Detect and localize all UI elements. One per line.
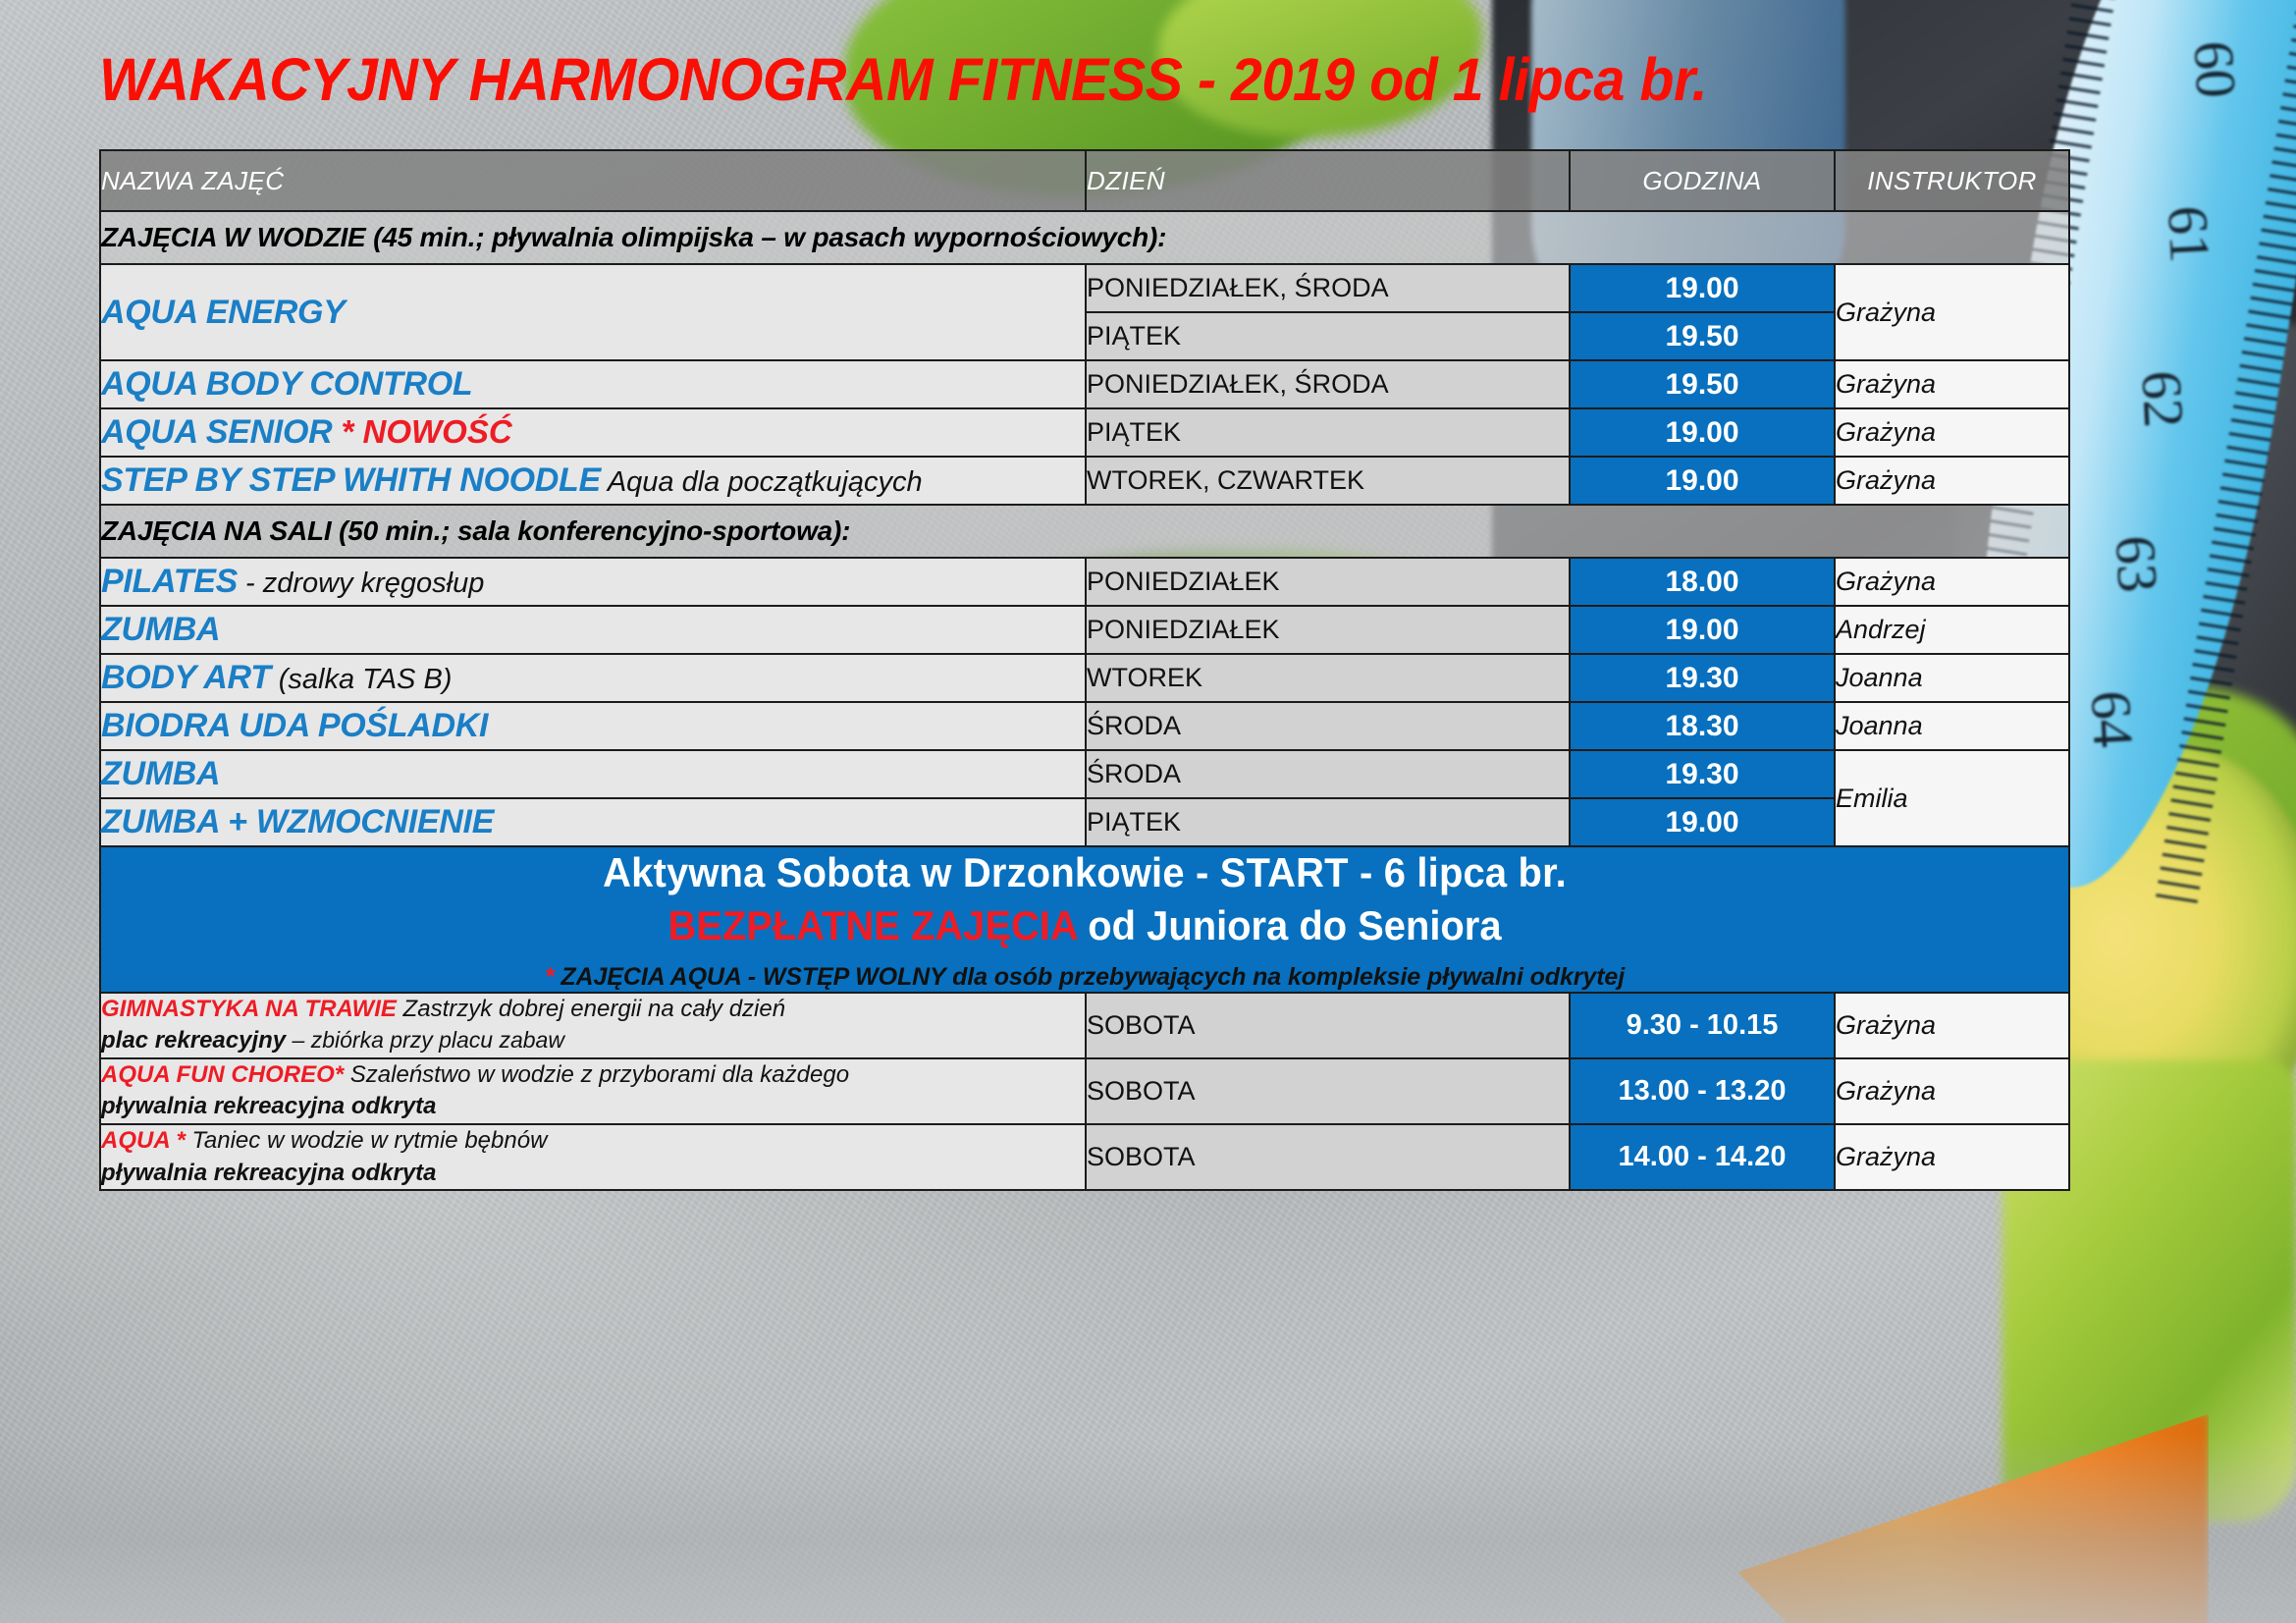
instructor-cell: Grażyna	[1835, 1058, 2069, 1124]
class-subtitle: - zdrowy kręgosłup	[238, 568, 484, 599]
class-name-cell: AQUA * Taniec w wodzie w rytmie bębnów p…	[100, 1124, 1086, 1190]
background-bottom-shade	[0, 1436, 2296, 1623]
saturday-place-line: pływalnia rekreacyjna odkryta	[101, 1091, 1085, 1123]
day-cell: PIĄTEK	[1086, 312, 1570, 360]
saturday-banner: Aktywna Sobota w Drzonkowie - START - 6 …	[100, 846, 2069, 993]
class-subtitle: Aqua dla początkujących	[601, 466, 923, 498]
table-row[interactable]: STEP BY STEP WHITH NOODLE Aqua dla począ…	[100, 457, 2069, 505]
class-location: plac rekreacyjny	[101, 1027, 286, 1054]
table-header-row: NAZWA ZAJĘĆ DZIEŃ GODZINA INSTRUKTOR	[100, 150, 2069, 211]
saturday-place-line: pływalnia rekreacyjna odkryta	[101, 1158, 1085, 1190]
table-row[interactable]: AQUA ENERGY PONIEDZIAŁEK, ŚRODA 19.00 Gr…	[100, 264, 2069, 312]
class-name-cell: PILATES - zdrowy kręgosłup	[100, 558, 1086, 606]
section-header-water: ZAJĘCIA W WODZIE (45 min.; pływalnia oli…	[100, 211, 2069, 264]
tape-number-2: 61	[2155, 204, 2223, 264]
table-row[interactable]: AQUA FUN CHOREO* Szaleństwo w wodzie z p…	[100, 1058, 2069, 1124]
time-cell: 19.50	[1570, 360, 1835, 408]
page-title-main: WAKACYJNY HARMONOGRAM FITNESS	[99, 46, 1198, 113]
class-name-cell: GIMNASTYKA NA TRAWIE Zastrzyk dobrej ene…	[100, 993, 1086, 1058]
day-cell: SOBOTA	[1086, 1058, 1570, 1124]
class-name-cell: AQUA FUN CHOREO* Szaleństwo w wodzie z p…	[100, 1058, 1086, 1124]
class-name-cell: STEP BY STEP WHITH NOODLE Aqua dla począ…	[100, 457, 1086, 505]
instructor-cell: Andrzej	[1835, 606, 2069, 654]
day-cell: PONIEDZIAŁEK, ŚRODA	[1086, 360, 1570, 408]
table-row[interactable]: PILATES - zdrowy kręgosłup PONIEDZIAŁEK …	[100, 558, 2069, 606]
instructor-cell: Grażyna	[1835, 360, 2069, 408]
class-name-cell: AQUA BODY CONTROL	[100, 360, 1086, 408]
saturday-title-line: GIMNASTYKA NA TRAWIE Zastrzyk dobrej ene…	[101, 994, 1085, 1026]
time-cell: 19.50	[1570, 312, 1835, 360]
asterisk-marker: *	[545, 963, 555, 991]
day-cell: PONIEDZIAŁEK	[1086, 606, 1570, 654]
tape-number-3: 62	[2128, 369, 2197, 429]
section-header-water-label: ZAJĘCIA W WODZIE (45 min.; pływalnia oli…	[100, 211, 2069, 264]
column-header-instructor: INSTRUKTOR	[1835, 150, 2069, 211]
table-row[interactable]: BODY ART (salka TAS B) WTOREK 19.30 Joan…	[100, 654, 2069, 702]
class-description: Zastrzyk dobrej energii na cały dzień	[397, 996, 785, 1022]
class-title: AQUA ENERGY	[101, 294, 346, 331]
day-cell: PIĄTEK	[1086, 408, 1570, 457]
instructor-cell: Grażyna	[1835, 993, 2069, 1058]
banner-note: ZAJĘCIA AQUA - WSTĘP WOLNY dla osób prze…	[555, 963, 1626, 991]
class-title: GIMNASTYKA NA TRAWIE	[101, 996, 397, 1022]
section-header-hall-label: ZAJĘCIA NA SALI (50 min.; sala konferenc…	[100, 505, 2069, 558]
tape-number-1: 60	[2181, 39, 2250, 99]
saturday-place-line: plac rekreacyjny – zbiórka przy placu za…	[101, 1025, 1085, 1057]
time-cell: 14.00 - 14.20	[1570, 1124, 1835, 1190]
class-title: STEP BY STEP WHITH NOODLE	[101, 461, 601, 499]
class-location: pływalnia rekreacyjna odkryta	[101, 1093, 437, 1119]
class-subtitle: (salka TAS B)	[271, 664, 453, 695]
page-title: WAKACYJNY HARMONOGRAM FITNESS - 2019 od …	[99, 45, 1760, 122]
day-cell: PONIEDZIAŁEK	[1086, 558, 1570, 606]
table-row[interactable]: AQUA * Taniec w wodzie w rytmie bębnów p…	[100, 1124, 2069, 1190]
class-location: pływalnia rekreacyjna odkryta	[101, 1160, 437, 1186]
saturday-title-line: AQUA FUN CHOREO* Szaleństwo w wodzie z p…	[101, 1059, 1085, 1092]
section-header-hall: ZAJĘCIA NA SALI (50 min.; sala konferenc…	[100, 505, 2069, 558]
class-name-cell: BODY ART (salka TAS B)	[100, 654, 1086, 702]
saturday-title-line: AQUA * Taniec w wodzie w rytmie bębnów	[101, 1125, 1085, 1158]
banner-free-classes: BEZPŁATNE ZAJĘCIA	[667, 902, 1077, 948]
instructor-cell: Grażyna	[1835, 264, 2069, 360]
instructor-cell: Joanna	[1835, 654, 2069, 702]
day-cell: SOBOTA	[1086, 993, 1570, 1058]
banner-line-2: BEZPŁATNE ZAJĘCIA od Juniora do Seniora	[150, 899, 2019, 953]
class-title: AQUA FUN CHOREO*	[101, 1061, 344, 1088]
table-row[interactable]: AQUA SENIOR * NOWOŚĆ PIĄTEK 19.00 Grażyn…	[100, 408, 2069, 457]
column-header-time: GODZINA	[1570, 150, 1835, 211]
time-cell: 19.00	[1570, 408, 1835, 457]
time-cell: 19.00	[1570, 264, 1835, 312]
tape-number-4: 63	[2103, 534, 2171, 594]
banner-junior-senior: od Juniora do Seniora	[1077, 902, 1501, 948]
time-cell: 19.00	[1570, 606, 1835, 654]
day-cell: SOBOTA	[1086, 1124, 1570, 1190]
instructor-cell: Grażyna	[1835, 457, 2069, 505]
page-title-suffix: - 2019 od 1 lipca br.	[1198, 46, 1707, 113]
instructor-cell: Joanna	[1835, 702, 2069, 750]
class-title: BODY ART	[101, 659, 271, 696]
time-cell: 18.00	[1570, 558, 1835, 606]
instructor-cell: Grażyna	[1835, 408, 2069, 457]
class-name-cell: ZUMBA	[100, 606, 1086, 654]
time-cell: 13.00 - 13.20	[1570, 1058, 1835, 1124]
table-row[interactable]: ZUMBA + WZMOCNIENIE PIĄTEK 19.00	[100, 798, 2069, 846]
class-title: PILATES	[101, 563, 238, 600]
table-row[interactable]: ZUMBA PONIEDZIAŁEK 19.00 Andrzej	[100, 606, 2069, 654]
time-cell: 9.30 - 10.15	[1570, 993, 1835, 1058]
schedule-table: NAZWA ZAJĘĆ DZIEŃ GODZINA INSTRUKTOR ZAJ…	[99, 149, 2070, 1191]
class-title: ZUMBA	[101, 611, 220, 648]
class-name-cell: BIODRA UDA POŚLADKI	[100, 702, 1086, 750]
banner-line-3: * ZAJĘCIA AQUA - WSTĘP WOLNY dla osób pr…	[101, 963, 2068, 992]
time-cell: 19.00	[1570, 457, 1835, 505]
table-row[interactable]: ZUMBA ŚRODA 19.30 Emilia	[100, 750, 2069, 798]
time-cell: 19.30	[1570, 750, 1835, 798]
time-cell: 19.00	[1570, 798, 1835, 846]
day-cell: PIĄTEK	[1086, 798, 1570, 846]
tape-number-5: 64	[2078, 689, 2147, 749]
time-cell: 19.30	[1570, 654, 1835, 702]
class-location-note: – zbiórka przy placu zabaw	[286, 1027, 564, 1053]
column-header-day: DZIEŃ	[1086, 150, 1570, 211]
class-badge-new: * NOWOŚĆ	[342, 413, 512, 450]
instructor-cell: Grażyna	[1835, 558, 2069, 606]
banner-line-1: Aktywna Sobota w Drzonkowie - START - 6 …	[150, 847, 2019, 899]
table-row[interactable]: BIODRA UDA POŚLADKI ŚRODA 18.30 Joanna	[100, 702, 2069, 750]
class-name-cell: ZUMBA + WZMOCNIENIE	[100, 798, 1086, 846]
class-title: BIODRA UDA POŚLADKI	[101, 707, 488, 744]
day-cell: ŚRODA	[1086, 750, 1570, 798]
class-title: AQUA BODY CONTROL	[101, 365, 472, 403]
day-cell: WTOREK	[1086, 654, 1570, 702]
class-title: ZUMBA + WZMOCNIENIE	[101, 803, 494, 840]
class-description: Szaleństwo w wodzie z przyborami dla każ…	[344, 1061, 849, 1088]
class-name-cell: AQUA SENIOR * NOWOŚĆ	[100, 408, 1086, 457]
class-title: AQUA SENIOR	[101, 413, 342, 451]
class-description: Taniec w wodzie w rytmie bębnów	[186, 1127, 548, 1154]
time-cell: 18.30	[1570, 702, 1835, 750]
instructor-cell: Grażyna	[1835, 1124, 2069, 1190]
saturday-banner-row: Aktywna Sobota w Drzonkowie - START - 6 …	[100, 846, 2069, 993]
day-cell: ŚRODA	[1086, 702, 1570, 750]
class-title: ZUMBA	[101, 755, 220, 792]
class-title: AQUA *	[101, 1127, 186, 1154]
table-row[interactable]: AQUA BODY CONTROL PONIEDZIAŁEK, ŚRODA 19…	[100, 360, 2069, 408]
class-name-cell: AQUA ENERGY	[100, 264, 1086, 360]
day-cell: WTOREK, CZWARTEK	[1086, 457, 1570, 505]
column-header-name: NAZWA ZAJĘĆ	[100, 150, 1086, 211]
instructor-cell: Emilia	[1835, 750, 2069, 846]
table-row[interactable]: GIMNASTYKA NA TRAWIE Zastrzyk dobrej ene…	[100, 993, 2069, 1058]
day-cell: PONIEDZIAŁEK, ŚRODA	[1086, 264, 1570, 312]
class-name-cell: ZUMBA	[100, 750, 1086, 798]
